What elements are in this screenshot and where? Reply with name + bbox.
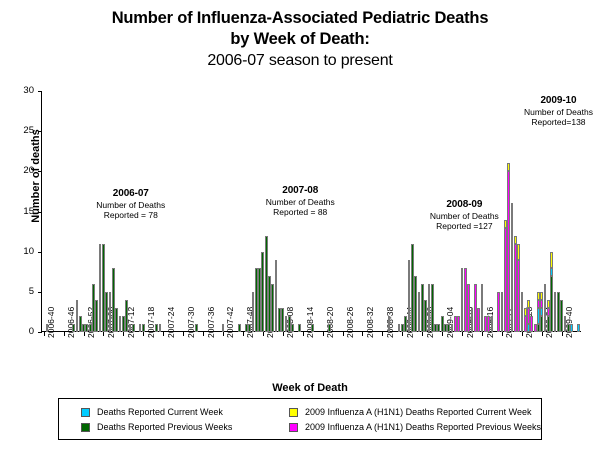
bar-segment xyxy=(119,316,122,332)
bar-segment xyxy=(222,324,225,332)
legend-label: 2009 Influenza A (H1N1) Deaths Reported … xyxy=(305,422,541,433)
x-tick-mark xyxy=(64,332,65,336)
title-line-1: Number of Influenza-Associated Pediatric… xyxy=(0,8,600,29)
season-annotation: 2007-08Number of DeathsReported = 88 xyxy=(240,185,360,217)
bar xyxy=(79,316,82,332)
bar-segment xyxy=(560,300,563,332)
bar xyxy=(441,316,444,332)
y-tick-label: 5 xyxy=(0,287,34,297)
bar xyxy=(222,324,225,332)
bar-segment xyxy=(89,324,92,332)
bar-segment xyxy=(567,324,570,332)
bar xyxy=(404,316,407,332)
bar-segment xyxy=(514,244,517,332)
bar xyxy=(265,236,268,332)
bar-segment xyxy=(428,284,431,332)
bar xyxy=(82,324,85,332)
bar-segment xyxy=(102,244,105,332)
chart-page: Number of Influenza-Associated Pediatric… xyxy=(0,0,600,450)
bar xyxy=(454,316,457,332)
x-tick-mark xyxy=(382,332,383,336)
bar-segment xyxy=(540,300,543,308)
bar xyxy=(514,236,517,332)
season-annotation: 2006-07Number of DeathsReported = 78 xyxy=(71,188,191,220)
bar xyxy=(428,284,431,332)
x-tick-mark xyxy=(462,332,463,336)
bar xyxy=(544,284,547,332)
bar-segment xyxy=(451,324,454,332)
bar-segment xyxy=(261,252,264,332)
x-tick-mark xyxy=(143,332,144,336)
season-annotation: 2009-10Number of DeathsReported=138 xyxy=(498,95,600,127)
bar xyxy=(195,324,198,332)
bar xyxy=(252,292,255,332)
bar xyxy=(421,284,424,332)
bar-segment xyxy=(424,300,427,332)
bar xyxy=(102,244,105,332)
bar xyxy=(471,308,474,332)
season-deaths-caption: Number of Deaths xyxy=(498,107,600,117)
bar xyxy=(411,244,414,332)
bar-segment xyxy=(491,316,494,332)
bar xyxy=(388,316,391,332)
bar-segment xyxy=(85,324,88,332)
bar xyxy=(418,292,421,332)
bar-segment xyxy=(311,324,314,332)
season-annotation: 2008-09Number of DeathsReported =127 xyxy=(404,199,524,231)
bar xyxy=(467,284,470,332)
bar-segment xyxy=(444,324,447,332)
bar-segment xyxy=(544,308,547,332)
legend-label: Deaths Reported Previous Weeks xyxy=(97,422,232,433)
chart-legend: Deaths Reported Current WeekDeaths Repor… xyxy=(58,398,542,440)
x-tick-mark xyxy=(203,332,204,336)
bar-segment xyxy=(554,300,557,332)
bar-segment xyxy=(122,316,125,332)
bar xyxy=(122,316,125,332)
chart-title: Number of Influenza-Associated Pediatric… xyxy=(0,8,600,71)
bar-segment xyxy=(540,292,543,300)
bar-segment xyxy=(534,324,537,332)
bar xyxy=(461,268,464,332)
bar-segment xyxy=(544,284,547,292)
bar xyxy=(550,252,553,332)
bar xyxy=(278,308,281,332)
bar-segment xyxy=(434,324,437,332)
bar-segment xyxy=(79,316,82,332)
bar xyxy=(281,308,284,332)
bar-segment xyxy=(408,260,411,332)
bar xyxy=(431,284,434,332)
bar xyxy=(560,300,563,332)
bar-segment xyxy=(288,316,291,332)
bar-segment xyxy=(275,260,278,332)
bar-segment xyxy=(454,316,457,332)
x-axis-title: Week of Death xyxy=(180,382,440,394)
bar-segment xyxy=(457,316,460,332)
bar-segment xyxy=(547,316,550,332)
bar-segment xyxy=(398,324,401,332)
bar xyxy=(517,244,520,332)
bar-segment xyxy=(497,292,500,332)
bar-segment xyxy=(474,284,477,332)
bar xyxy=(238,324,241,332)
title-line-2: by Week of Death: xyxy=(0,29,600,50)
bar-segment xyxy=(414,276,417,332)
bar-segment xyxy=(537,324,540,332)
bar xyxy=(567,324,570,332)
y-tick-label: 25 xyxy=(0,126,34,136)
bar xyxy=(457,316,460,332)
bar-segment xyxy=(511,236,514,332)
bar xyxy=(554,292,557,332)
bar-segment xyxy=(550,252,553,268)
bar xyxy=(155,324,158,332)
bar xyxy=(497,292,500,332)
x-tick-mark xyxy=(263,332,264,336)
bar xyxy=(491,316,494,332)
bar xyxy=(524,308,527,332)
x-tick-mark xyxy=(343,332,344,336)
bar-segment xyxy=(461,268,464,332)
bar xyxy=(85,324,88,332)
bar-segment xyxy=(195,324,198,332)
bar-segment xyxy=(507,163,510,171)
bar-segment xyxy=(437,324,440,332)
bar xyxy=(99,244,102,332)
bar xyxy=(507,163,510,332)
bar-segment xyxy=(540,316,543,332)
bar xyxy=(557,292,560,332)
bar-segment xyxy=(281,308,284,332)
bar xyxy=(451,324,454,332)
bar-segment xyxy=(291,324,294,332)
x-tick-mark xyxy=(422,332,423,336)
bar xyxy=(481,284,484,332)
x-tick-mark xyxy=(502,332,503,336)
bar-segment xyxy=(467,284,470,332)
bar-segment xyxy=(328,324,331,332)
bar xyxy=(271,284,274,332)
bar xyxy=(129,324,132,332)
y-tick-label: 15 xyxy=(0,207,34,217)
bar-segment xyxy=(418,292,421,332)
season-label: 2008-09 xyxy=(404,199,524,211)
bar xyxy=(92,284,95,332)
bar xyxy=(464,268,467,332)
bar-segment xyxy=(530,316,533,332)
bar-segment xyxy=(129,324,132,332)
bar xyxy=(119,316,122,332)
bar xyxy=(477,308,480,332)
x-tick-mark xyxy=(402,332,403,336)
bar xyxy=(328,324,331,332)
bar xyxy=(537,292,540,332)
bar-segment xyxy=(441,316,444,332)
x-tick-mark xyxy=(522,332,523,336)
bar-segment xyxy=(268,276,271,332)
bar-segment xyxy=(155,324,158,332)
bar-segment xyxy=(517,260,520,332)
bar xyxy=(414,276,417,332)
bar xyxy=(437,324,440,332)
bar-segment xyxy=(501,292,504,332)
bar-segment xyxy=(132,324,135,332)
bar xyxy=(95,300,98,332)
bar xyxy=(139,324,142,332)
bar-segment xyxy=(142,324,145,332)
bar xyxy=(484,316,487,332)
bar-segment xyxy=(550,268,553,276)
bar xyxy=(487,316,490,332)
x-tick-mark xyxy=(283,332,284,336)
bar xyxy=(105,292,108,332)
bar xyxy=(255,268,258,332)
bar-segment xyxy=(521,292,524,300)
bar xyxy=(447,324,450,332)
bar-segment xyxy=(487,316,490,332)
bar-segment xyxy=(245,324,248,332)
bar-segment xyxy=(514,236,517,244)
x-tick-mark xyxy=(303,332,304,336)
bar-segment xyxy=(139,324,142,332)
bar xyxy=(534,324,537,332)
bar xyxy=(564,316,567,332)
bar xyxy=(530,316,533,332)
bar-segment xyxy=(82,324,85,332)
bar-segment xyxy=(550,276,553,332)
bar-segment xyxy=(577,324,580,332)
bar-segment xyxy=(92,284,95,332)
legend-label: 2009 Influenza A (H1N1) Deaths Reported … xyxy=(305,407,531,418)
bar xyxy=(570,324,573,332)
bar-segment xyxy=(46,324,49,332)
bar-segment xyxy=(481,284,484,332)
bar-segment xyxy=(464,268,467,332)
bar xyxy=(291,324,294,332)
bar-segment xyxy=(564,316,567,332)
bar xyxy=(261,252,264,332)
y-tick-mark xyxy=(38,332,42,333)
bar-segment xyxy=(527,324,530,332)
bar-segment xyxy=(115,308,118,332)
x-tick-mark xyxy=(243,332,244,336)
x-tick-mark xyxy=(123,332,124,336)
bar xyxy=(408,260,411,332)
bar-segment xyxy=(554,292,557,300)
bar-segment xyxy=(527,300,530,308)
season-label: 2007-08 xyxy=(240,185,360,197)
x-tick-mark xyxy=(163,332,164,336)
season-deaths-caption: Number of Deaths xyxy=(240,197,360,207)
bar-segment xyxy=(431,284,434,332)
bar-segment xyxy=(76,300,79,332)
bar xyxy=(398,324,401,332)
bar-segment xyxy=(72,324,75,332)
bar-segment xyxy=(527,308,530,324)
y-tick-label: 0 xyxy=(0,327,34,337)
bar-segment xyxy=(298,324,301,332)
x-tick-mark xyxy=(442,332,443,336)
bar xyxy=(76,300,79,332)
bar-segment xyxy=(95,300,98,332)
bar-segment xyxy=(447,324,450,332)
bar-segment xyxy=(401,324,404,332)
bar xyxy=(504,220,507,332)
bar-segment xyxy=(271,284,274,332)
bar-segment xyxy=(248,324,251,332)
legend-swatch xyxy=(81,423,90,432)
bar xyxy=(298,324,301,332)
season-deaths-total: Reported = 78 xyxy=(71,210,191,220)
bar-segment xyxy=(524,316,527,332)
bar-segment xyxy=(517,244,520,260)
bar-segment xyxy=(540,308,543,316)
x-tick-mark xyxy=(323,332,324,336)
bar xyxy=(89,324,92,332)
bar xyxy=(132,324,135,332)
season-deaths-total: Reported =127 xyxy=(404,221,524,231)
x-tick-mark xyxy=(542,332,543,336)
bar xyxy=(245,324,248,332)
bar-segment xyxy=(285,316,288,332)
bar xyxy=(434,324,437,332)
bar-segment xyxy=(521,300,524,332)
bar xyxy=(248,324,251,332)
bar-segment xyxy=(477,308,480,332)
title-line-3: 2006-07 season to present xyxy=(0,50,600,71)
bar-segment xyxy=(404,316,407,332)
bar xyxy=(109,292,112,332)
bar-segment xyxy=(484,316,487,332)
bar-segment xyxy=(537,292,540,300)
season-deaths-caption: Number of Deaths xyxy=(71,200,191,210)
bar xyxy=(501,292,504,332)
bar xyxy=(540,292,543,332)
bar-segment xyxy=(547,308,550,316)
bar xyxy=(142,324,145,332)
x-tick-mark xyxy=(223,332,224,336)
season-deaths-total: Reported = 88 xyxy=(240,207,360,217)
season-deaths-total: Reported=138 xyxy=(498,117,600,127)
bar xyxy=(401,324,404,332)
bar-segment xyxy=(255,268,258,332)
bar-segment xyxy=(252,292,255,332)
bar-segment xyxy=(265,236,268,332)
bar-segment xyxy=(421,284,424,332)
x-tick-mark xyxy=(44,332,45,336)
bar-segment xyxy=(537,308,540,324)
bar-segment xyxy=(258,268,261,332)
bar xyxy=(112,268,115,332)
bar-segment xyxy=(504,228,507,332)
bar-segment xyxy=(278,308,281,332)
bar-segment xyxy=(471,308,474,332)
bar-segment xyxy=(109,292,112,332)
bar xyxy=(311,324,314,332)
bar-segment xyxy=(537,300,540,308)
bar-segment xyxy=(125,300,128,332)
y-tick-label: 20 xyxy=(0,166,34,176)
x-tick-mark xyxy=(482,332,483,336)
bar xyxy=(285,316,288,332)
bar xyxy=(115,308,118,332)
y-tick-label: 30 xyxy=(0,86,34,96)
bar xyxy=(72,324,75,332)
bar xyxy=(275,260,278,332)
bar-segment xyxy=(524,308,527,316)
bar-segment xyxy=(159,324,162,332)
bar xyxy=(527,300,530,332)
bar xyxy=(288,316,291,332)
bar xyxy=(444,324,447,332)
bar-segment xyxy=(112,268,115,332)
legend-label: Deaths Reported Current Week xyxy=(97,407,223,418)
bar xyxy=(547,300,550,332)
bar-segment xyxy=(570,324,573,332)
bar xyxy=(268,276,271,332)
x-tick-mark xyxy=(562,332,563,336)
x-tick-mark xyxy=(103,332,104,336)
bar xyxy=(159,324,162,332)
x-tick-mark xyxy=(183,332,184,336)
bar-segment xyxy=(388,316,391,332)
bar-segment xyxy=(507,171,510,332)
legend-swatch xyxy=(289,423,298,432)
legend-swatch xyxy=(81,408,90,417)
bar-segment xyxy=(547,300,550,308)
bar xyxy=(258,268,261,332)
legend-swatch xyxy=(289,408,298,417)
x-tick-mark xyxy=(362,332,363,336)
bar-segment xyxy=(544,292,547,308)
y-tick-label: 10 xyxy=(0,247,34,257)
bar xyxy=(424,300,427,332)
bar-segment xyxy=(557,292,560,332)
season-label: 2006-07 xyxy=(71,188,191,200)
bar xyxy=(46,324,49,332)
bar-segment xyxy=(411,244,414,332)
bar xyxy=(125,300,128,332)
x-tick-mark xyxy=(84,332,85,336)
season-label: 2009-10 xyxy=(498,95,600,107)
bar-segment xyxy=(99,244,102,332)
bar xyxy=(474,284,477,332)
bar xyxy=(521,292,524,332)
bar xyxy=(577,324,580,332)
season-deaths-caption: Number of Deaths xyxy=(404,211,524,221)
bar-segment xyxy=(238,324,241,332)
bar-segment xyxy=(105,292,108,332)
